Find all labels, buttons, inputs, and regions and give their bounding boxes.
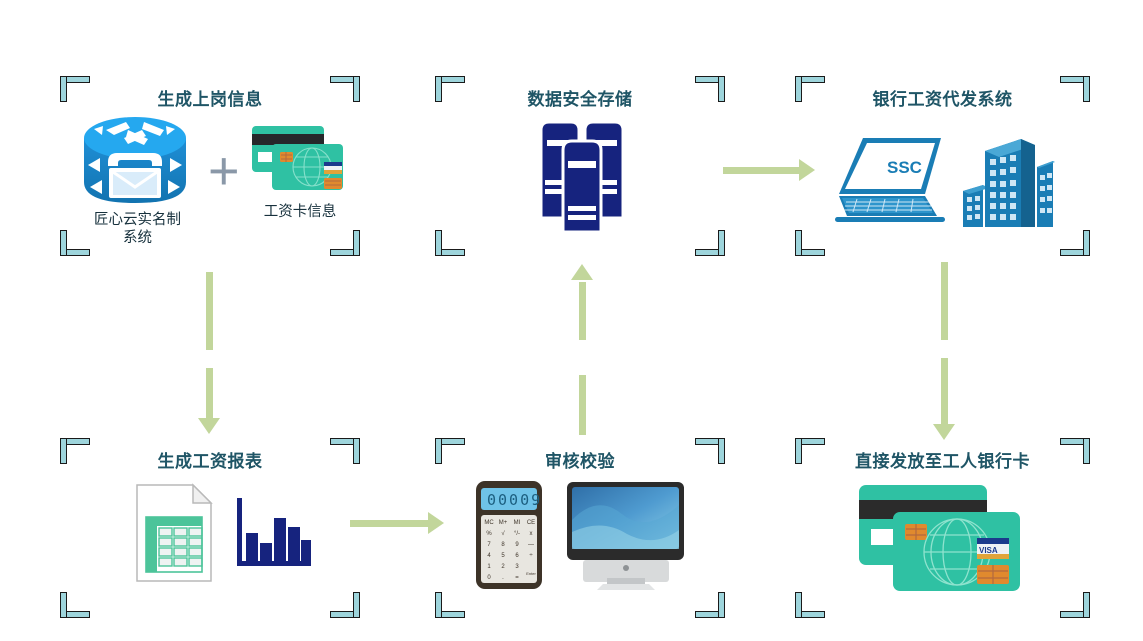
frame-corner-bottom-right — [330, 592, 360, 618]
frame-corner-bottom-right — [1060, 592, 1090, 618]
panel-generate-payroll-report: 生成工资报表 — [60, 438, 360, 618]
panel-bank-payroll-system: 银行工资代发系统 SSC — [795, 76, 1090, 256]
frame-corner-bottom-left — [795, 230, 825, 256]
frame-corner-bottom-right — [695, 230, 725, 256]
bank-cards-icon: VISA — [857, 483, 1022, 593]
desktop-monitor-icon — [563, 480, 688, 590]
plus-icon: + — [208, 144, 240, 198]
panel-audit-verification: 审核校验 00009 MCM+MICE %√°/-x 789— 456÷ 123… — [435, 438, 725, 618]
card-brand-label: VISA — [979, 546, 998, 555]
caption-payroll-card-info: 工资卡信息 — [230, 203, 370, 221]
office-buildings-icon — [955, 131, 1060, 231]
panel-secure-data-storage: 数据安全存储 — [435, 76, 725, 256]
payroll-card-icon — [250, 124, 345, 196]
svg-text:CE: CE — [527, 520, 535, 526]
caption-realname-system: 匠心云实名制 系统 — [50, 211, 225, 247]
panel-title: 直接发放至工人银行卡 — [795, 447, 1090, 472]
frame-corner-bottom-left — [435, 592, 465, 618]
panel-generate-employment-info: 生成上岗信息 — [60, 76, 360, 256]
frame-corner-bottom-right — [330, 230, 360, 256]
panel-title: 银行工资代发系统 — [795, 85, 1090, 110]
panel-title: 生成工资报表 — [60, 447, 360, 472]
calculator-icon: 00009 MCM+MICE %√°/-x 789— 456÷ 123 0.= … — [475, 480, 543, 590]
svg-text:MI: MI — [514, 520, 521, 526]
frame-corner-bottom-left — [60, 592, 90, 618]
frame-corner-bottom-right — [695, 592, 725, 618]
frame-corner-bottom-left — [435, 230, 465, 256]
diagram-canvas: 生成上岗信息 — [0, 0, 1143, 641]
spreadsheet-document-icon — [135, 483, 215, 583]
panel-title: 审核校验 — [435, 447, 725, 472]
panel-direct-payout-to-worker-card: 直接发放至工人银行卡 — [795, 438, 1090, 618]
svg-text:%: % — [486, 531, 492, 537]
bar-chart-icon — [235, 488, 315, 573]
laptop-ssc-icon: SSC — [833, 134, 953, 226]
panel-title: 生成上岗信息 — [60, 85, 360, 110]
router-cloud-icon — [70, 108, 200, 213]
frame-corner-bottom-left — [795, 592, 825, 618]
svg-text:—: — — [528, 542, 534, 548]
svg-text:MC: MC — [484, 520, 494, 526]
calculator-display-value: 00009 — [487, 491, 542, 509]
svg-text:x: x — [530, 531, 533, 537]
svg-text:M+: M+ — [499, 520, 508, 526]
server-stack-icon — [527, 118, 637, 236]
frame-corner-bottom-right — [1060, 230, 1090, 256]
panel-title: 数据安全存储 — [435, 85, 725, 110]
svg-text:°/-: °/- — [514, 531, 520, 537]
laptop-screen-label: SSC — [887, 158, 922, 177]
svg-text:=: = — [515, 575, 519, 581]
svg-text:Enter: Enter — [526, 571, 536, 576]
